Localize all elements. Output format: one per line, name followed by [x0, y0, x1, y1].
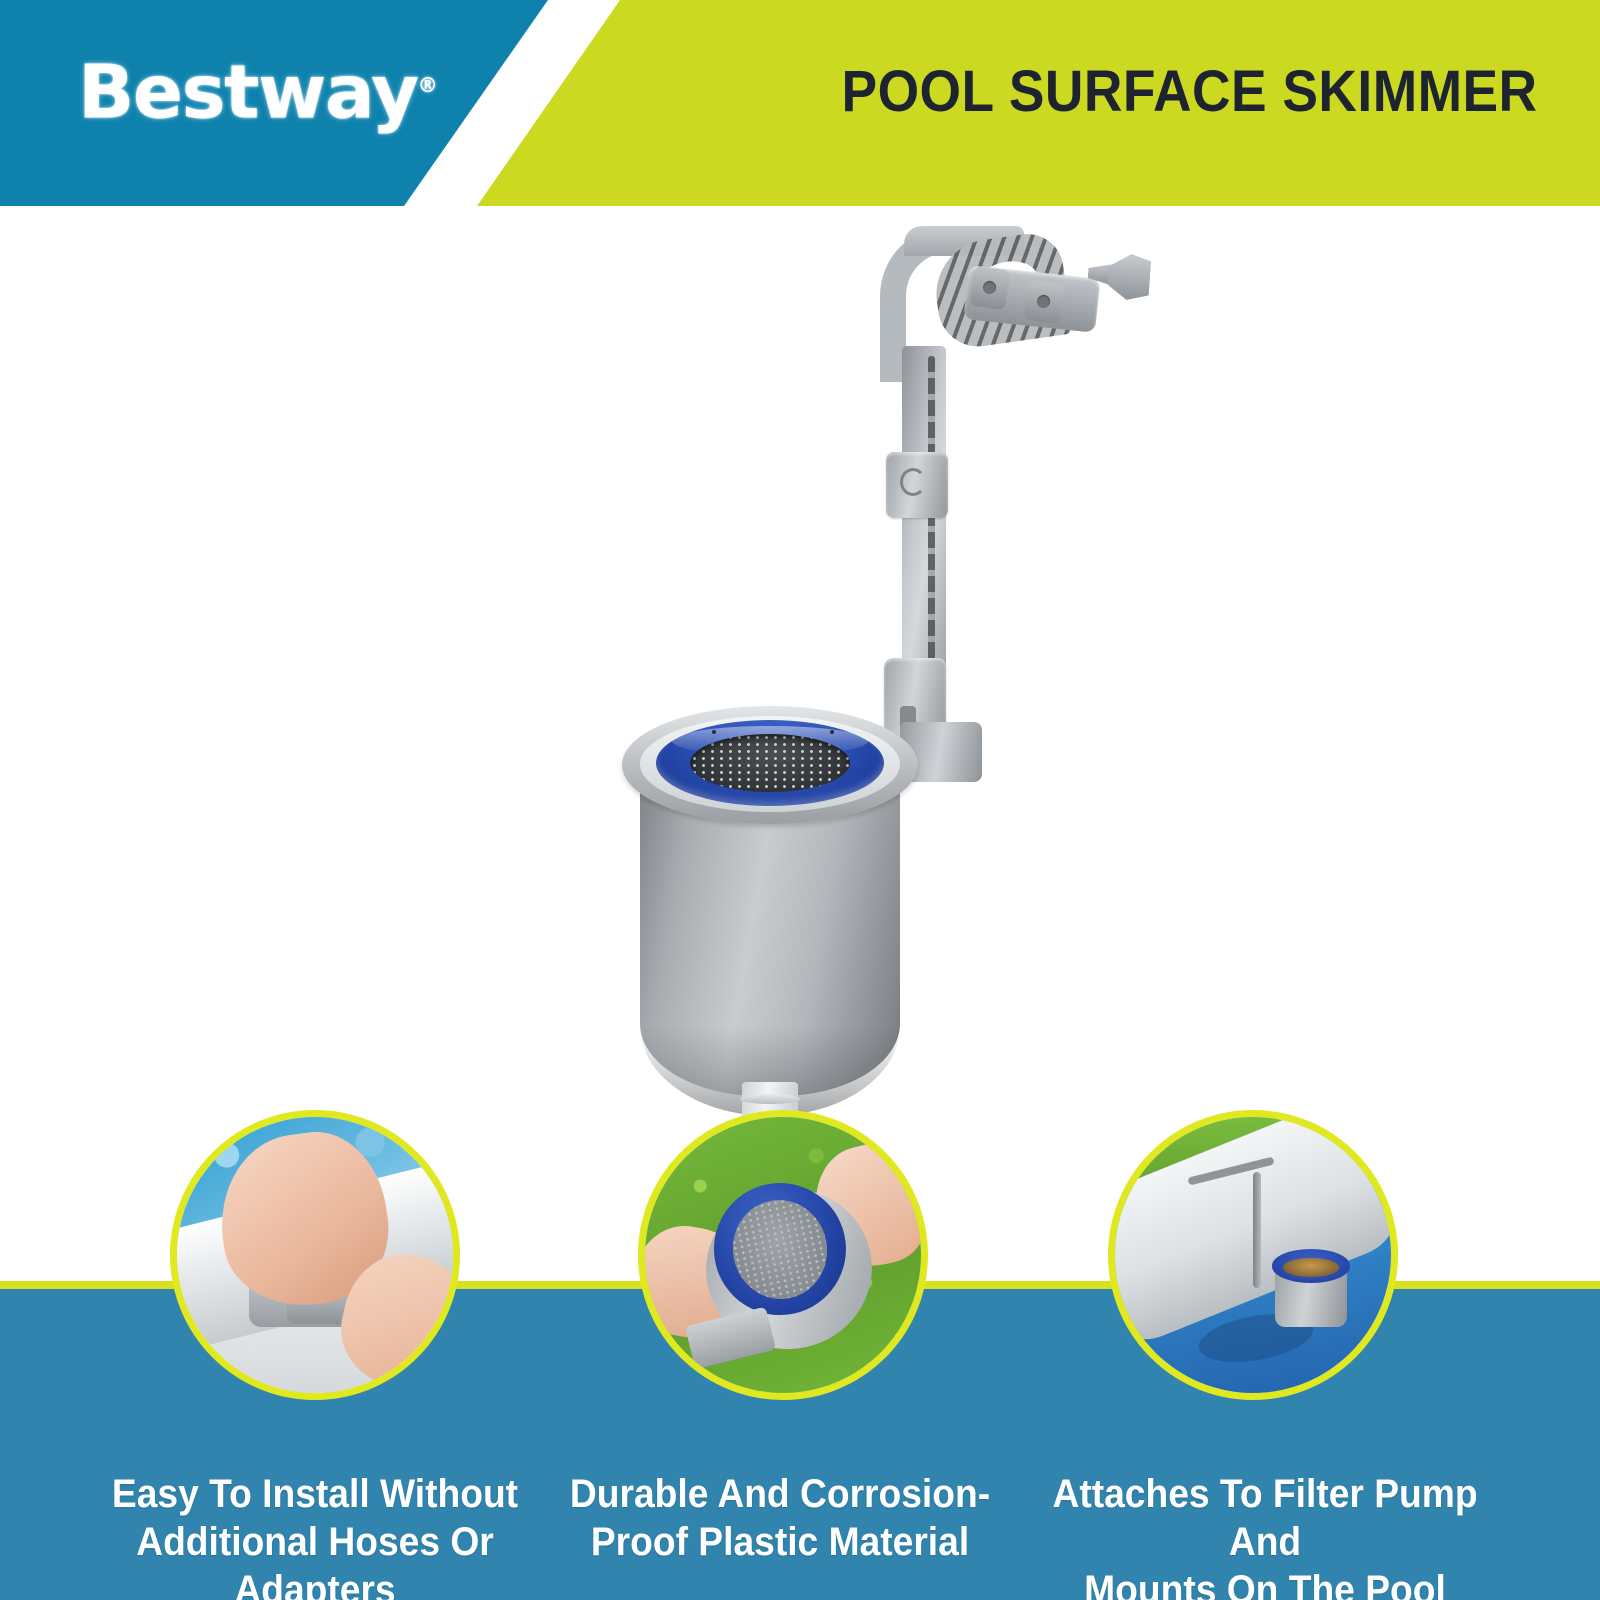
caption-material: Durable And Corrosion- Proof Plastic Mat… [561, 1470, 998, 1566]
feature-circle-mounting [1108, 1110, 1398, 1400]
mounting-photo [1115, 1117, 1391, 1393]
feature-circle-material [638, 1110, 928, 1400]
product-marketing-image: Bestway® POOL SURFACE SKIMMER [0, 0, 1600, 1600]
collected-debris [1283, 1258, 1338, 1277]
install-photo [177, 1117, 453, 1393]
caption-line-1: Attaches To Filter Pump And [1052, 1472, 1477, 1564]
caption-line-2: Additional Hoses Or Adapters [96, 1518, 533, 1600]
feature-thumbnails [0, 0, 1600, 1600]
material-photo [645, 1117, 921, 1393]
caption-line-2: Mounts On The Pool Wall [1046, 1566, 1483, 1600]
caption-line-1: Easy To Install Without [112, 1472, 518, 1516]
caption-line-1: Durable And Corrosion- [570, 1472, 990, 1516]
caption-line-2: Proof Plastic Material [561, 1518, 998, 1566]
caption-install: Easy To Install Without Additional Hoses… [96, 1470, 533, 1600]
skimmer-vertical-arm [1253, 1172, 1261, 1288]
feature-circle-install [170, 1110, 460, 1400]
caption-mounting: Attaches To Filter Pump And Mounts On Th… [1046, 1470, 1483, 1600]
